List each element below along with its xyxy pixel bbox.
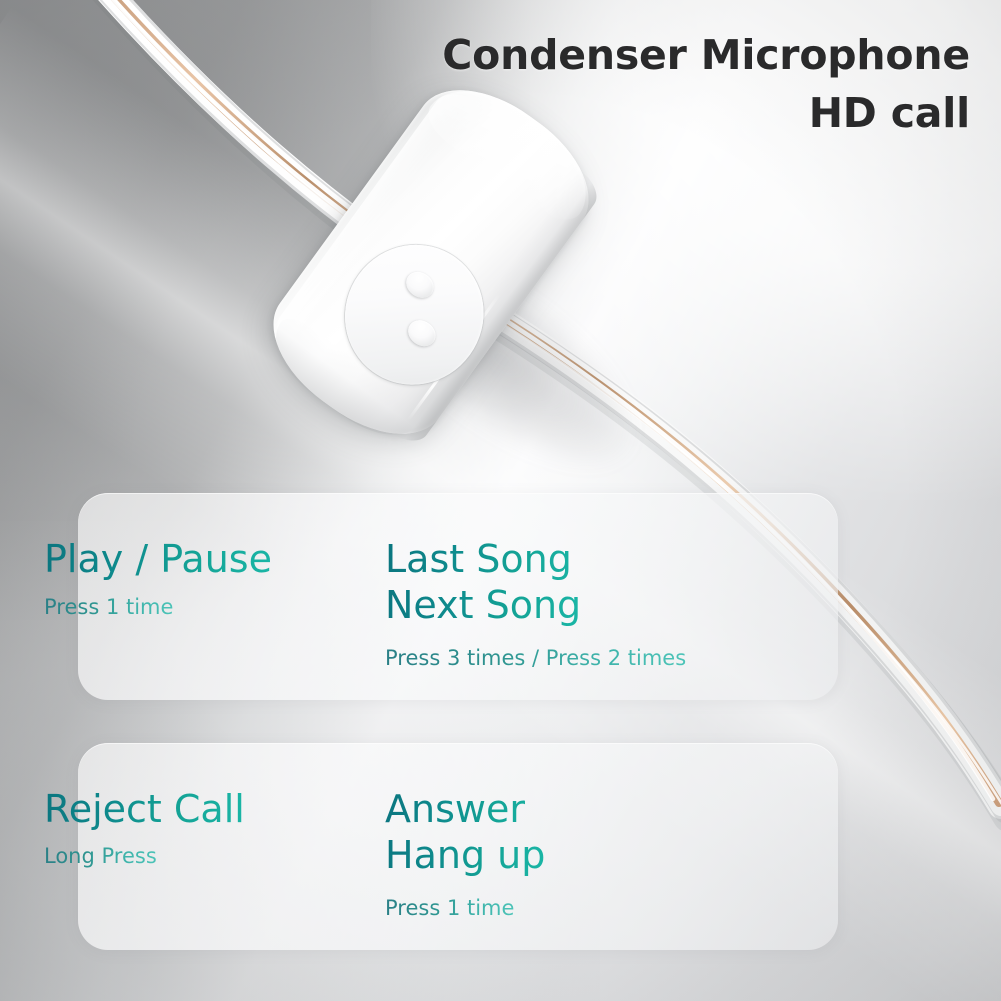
upper-round-button-icon[interactable] [401,267,438,303]
play-pause-title: Play / Pause [44,537,272,583]
lower-round-button-icon[interactable] [403,316,440,352]
play-pause-subtitle: Press 1 time [44,594,173,620]
answer-hangup-title-line-2: Hang up [385,833,545,879]
answer-hangup-subtitle: Press 1 time [385,895,514,921]
track-skip-title-line-1: Last Song [385,537,581,583]
page-title: Condenser Microphone HD call [350,26,970,142]
page-title-line-1: Condenser Microphone [350,26,970,84]
product-feature-poster: Condenser Microphone HD call Play / Paus… [0,0,1001,1001]
page-title-line-2: HD call [350,84,970,142]
reject-call-subtitle: Long Press [44,843,157,869]
track-skip-title: Last Song Next Song [385,537,581,628]
answer-hangup-title: Answer Hang up [385,787,545,878]
reject-call-title: Reject Call [44,787,245,833]
track-skip-subtitle: Press 3 times / Press 2 times [385,645,686,671]
track-skip-title-line-2: Next Song [385,583,581,629]
answer-hangup-title-line-1: Answer [385,787,545,833]
